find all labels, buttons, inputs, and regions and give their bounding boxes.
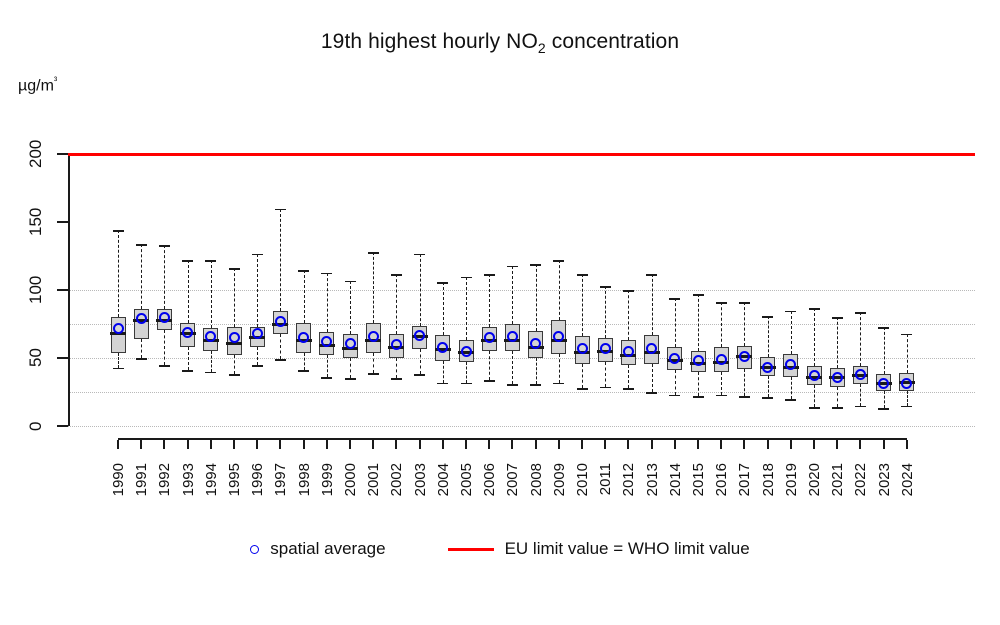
whisker-cap-upper: [553, 260, 564, 262]
whisker-cap-upper: [391, 274, 402, 276]
whisker-cap-lower: [113, 368, 124, 370]
whisker-lower: [304, 353, 305, 371]
x-axis-tick: [349, 440, 351, 449]
whisker-lower: [396, 358, 397, 378]
x-axis-tick: [767, 440, 769, 449]
whisker-upper: [536, 264, 537, 331]
whisker-lower: [652, 364, 653, 393]
x-axis-tick-label: 1995: [226, 463, 242, 496]
whisker-cap-upper: [159, 245, 170, 247]
whisker-upper: [628, 290, 629, 340]
x-axis-tick-label: 2003: [412, 463, 428, 496]
whisker-upper: [118, 230, 119, 317]
whisker-cap-upper: [368, 252, 379, 254]
whisker-cap-upper: [113, 230, 124, 232]
whisker-cap-lower: [182, 370, 193, 372]
whisker-upper: [652, 274, 653, 335]
x-axis-tick-label: 2020: [806, 463, 822, 496]
whisker-cap-upper: [762, 316, 773, 318]
whisker-upper: [211, 260, 212, 328]
x-axis-tick: [883, 440, 885, 449]
x-axis-tick: [790, 440, 792, 449]
whisker-cap-upper: [484, 274, 495, 276]
whisker-upper: [837, 317, 838, 367]
legend-item-spatial-average: spatial average: [250, 539, 385, 559]
x-axis-tick: [859, 440, 861, 449]
whisker-cap-upper: [414, 254, 425, 256]
whisker-lower: [373, 353, 374, 373]
spatial-average-marker: [391, 339, 402, 350]
spatial-average-marker: [437, 342, 448, 353]
whisker-cap-lower: [878, 408, 889, 410]
x-axis-tick: [720, 440, 722, 449]
whisker-upper: [512, 266, 513, 324]
gridline: [68, 392, 975, 393]
spatial-average-marker: [484, 332, 495, 343]
whisker-cap-upper: [229, 268, 240, 270]
y-axis-tick: [57, 153, 68, 155]
whisker-lower: [628, 365, 629, 388]
whisker-cap-upper: [716, 302, 727, 304]
whisker-lower: [466, 362, 467, 382]
y-axis-tick: [57, 357, 68, 359]
spatial-average-marker: [136, 313, 147, 324]
whisker-lower: [791, 377, 792, 399]
whisker-cap-upper: [669, 298, 680, 300]
whisker-cap-upper: [809, 308, 820, 310]
x-axis-tick-label: 2001: [365, 463, 381, 496]
spatial-average-marker: [855, 369, 866, 380]
x-axis-tick-label: 1996: [249, 463, 265, 496]
x-axis-tick-label: 1999: [319, 463, 335, 496]
x-axis-tick: [419, 440, 421, 449]
whisker-cap-lower: [159, 365, 170, 367]
whisker-lower: [768, 376, 769, 398]
x-axis-tick-label: 2014: [667, 463, 683, 496]
legend: spatial average EU limit value = WHO lim…: [0, 534, 1000, 564]
whisker-lower: [118, 353, 119, 368]
whisker-cap-lower: [623, 388, 634, 390]
x-axis-tick: [651, 440, 653, 449]
x-axis-tick: [697, 440, 699, 449]
whisker-lower: [814, 385, 815, 407]
whisker-upper: [675, 298, 676, 347]
whisker-cap-upper: [600, 286, 611, 288]
x-axis-tick: [395, 440, 397, 449]
whisker-upper: [860, 312, 861, 366]
whisker-lower: [489, 351, 490, 380]
whisker-lower: [164, 330, 165, 365]
x-axis-tick-label: 2019: [783, 463, 799, 496]
x-axis-tick: [535, 440, 537, 449]
x-axis-tick-label: 2015: [690, 463, 706, 496]
whisker-upper: [884, 327, 885, 375]
spatial-average-marker: [113, 323, 124, 334]
gridline: [68, 324, 975, 325]
whisker-cap-lower: [577, 388, 588, 390]
spatial-average-marker: [182, 327, 193, 338]
x-axis-tick-label: 2023: [876, 463, 892, 496]
x-axis-tick: [558, 440, 560, 449]
spatial-average-marker: [159, 312, 170, 323]
x-axis-tick-label: 2010: [574, 463, 590, 496]
x-axis-tick: [743, 440, 745, 449]
x-axis-tick-label: 2018: [760, 463, 776, 496]
whisker-lower: [234, 355, 235, 374]
whisker-cap-upper: [136, 244, 147, 246]
whisker-upper: [141, 244, 142, 309]
whisker-lower: [350, 358, 351, 378]
x-axis-tick: [604, 440, 606, 449]
whisker-upper: [768, 316, 769, 357]
whisker-upper: [907, 334, 908, 373]
legend-label-limit-value: EU limit value = WHO limit value: [505, 539, 750, 559]
whisker-upper: [257, 254, 258, 327]
x-axis-tick-label: 2011: [597, 463, 613, 495]
whisker-cap-lower: [646, 392, 657, 394]
whisker-cap-lower: [345, 378, 356, 380]
x-axis-tick: [372, 440, 374, 449]
whisker-cap-lower: [832, 407, 843, 409]
spatial-average-marker: [414, 330, 425, 341]
whisker-lower: [675, 370, 676, 394]
x-axis-tick: [674, 440, 676, 449]
spatial-average-marker: [252, 328, 263, 339]
gridline: [68, 426, 975, 427]
whisker-cap-upper: [507, 266, 518, 268]
x-axis-tick-label: 2004: [435, 463, 451, 496]
x-axis-tick: [442, 440, 444, 449]
x-axis-tick: [256, 440, 258, 449]
whisker-cap-lower: [553, 383, 564, 385]
whisker-cap-lower: [855, 406, 866, 408]
whisker-cap-lower: [739, 396, 750, 398]
whisker-upper: [791, 311, 792, 354]
whisker-upper: [304, 270, 305, 323]
y-axis-tick-label: 0: [26, 402, 46, 450]
whisker-cap-lower: [716, 395, 727, 397]
whisker-cap-upper: [855, 312, 866, 314]
whisker-cap-upper: [205, 260, 216, 262]
whisker-upper: [420, 254, 421, 326]
whisker-cap-lower: [275, 359, 286, 361]
whisker-cap-upper: [437, 282, 448, 284]
x-axis-tick-label: 1990: [110, 463, 126, 496]
whisker-lower: [512, 351, 513, 384]
whisker-upper: [373, 252, 374, 323]
whisker-cap-upper: [693, 294, 704, 296]
x-axis-tick: [627, 440, 629, 449]
x-axis-tick-label: 1993: [180, 463, 196, 496]
whisker-cap-lower: [461, 383, 472, 385]
whisker-lower: [744, 369, 745, 396]
whisker-cap-lower: [298, 370, 309, 372]
whisker-upper: [721, 302, 722, 347]
whisker-upper: [698, 294, 699, 351]
x-axis-tick-label: 1991: [133, 463, 149, 496]
whisker-cap-lower: [693, 396, 704, 398]
whisker-upper: [350, 281, 351, 334]
x-axis-tick: [187, 440, 189, 449]
whisker-upper: [489, 274, 490, 327]
spatial-average-marker: [275, 316, 286, 327]
whisker-cap-upper: [252, 254, 263, 256]
whisker-cap-upper: [832, 317, 843, 319]
whisker-cap-upper: [785, 311, 796, 313]
whisker-upper: [443, 282, 444, 335]
whisker-cap-lower: [321, 377, 332, 379]
gridline: [68, 290, 975, 291]
x-axis-tick-label: 2016: [713, 463, 729, 496]
legend-item-limit-value: EU limit value = WHO limit value: [448, 539, 750, 559]
whisker-cap-upper: [321, 273, 332, 275]
whisker-lower: [141, 339, 142, 358]
whisker-upper: [234, 268, 235, 326]
spatial-average-marker: [669, 353, 680, 364]
whisker-lower: [188, 347, 189, 370]
y-axis-tick-label: 200: [26, 130, 46, 178]
y-axis-tick-label: 150: [26, 198, 46, 246]
whisker-lower: [698, 372, 699, 396]
x-axis-tick-label: 1997: [272, 463, 288, 496]
x-axis-tick: [906, 440, 908, 449]
x-axis-tick-label: 1994: [203, 463, 219, 496]
line-icon: [448, 548, 494, 551]
whisker-lower: [837, 387, 838, 407]
whisker-upper: [327, 273, 328, 333]
whisker-cap-lower: [762, 397, 773, 399]
whisker-cap-lower: [414, 374, 425, 376]
y-axis-tick-label: 100: [26, 266, 46, 314]
spatial-average-marker: [600, 343, 611, 354]
whisker-cap-upper: [623, 290, 634, 292]
whisker-lower: [211, 351, 212, 371]
x-axis-tick: [279, 440, 281, 449]
whisker-upper: [164, 245, 165, 309]
x-axis-tick: [836, 440, 838, 449]
x-axis-tick-label: 2006: [481, 463, 497, 496]
whisker-cap-upper: [878, 327, 889, 329]
whisker-lower: [420, 349, 421, 375]
whisker-cap-lower: [785, 399, 796, 401]
whisker-lower: [605, 362, 606, 386]
whisker-upper: [605, 286, 606, 338]
gridline: [68, 358, 975, 359]
x-axis-tick: [488, 440, 490, 449]
whisker-lower: [907, 391, 908, 406]
circle-icon: [250, 545, 259, 554]
legend-label-spatial-average: spatial average: [270, 539, 385, 559]
whisker-upper: [188, 260, 189, 322]
whisker-lower: [536, 358, 537, 384]
whisker-cap-upper: [275, 209, 286, 211]
spatial-average-marker: [623, 346, 634, 357]
x-axis-tick: [326, 440, 328, 449]
x-axis-tick: [233, 440, 235, 449]
whisker-lower: [582, 364, 583, 388]
y-axis-line: [68, 154, 70, 426]
y-axis-tick: [57, 425, 68, 427]
y-axis-tick: [57, 221, 68, 223]
x-axis-tick-label: 2007: [504, 463, 520, 496]
whisker-cap-lower: [437, 383, 448, 385]
whisker-lower: [327, 355, 328, 377]
eu-who-limit-line: [68, 153, 975, 156]
spatial-average-marker: [229, 332, 240, 343]
whisker-upper: [559, 260, 560, 320]
whisker-lower: [860, 384, 861, 406]
x-axis-tick: [140, 440, 142, 449]
x-axis-tick-label: 2009: [551, 463, 567, 496]
x-axis-tick: [163, 440, 165, 449]
whisker-lower: [884, 391, 885, 409]
whisker-cap-lower: [368, 373, 379, 375]
whisker-cap-lower: [229, 374, 240, 376]
chart-page: 19th highest hourly NO2 concentration µg…: [0, 0, 1000, 625]
whisker-lower: [721, 372, 722, 395]
whisker-lower: [257, 347, 258, 365]
spatial-average-marker: [507, 331, 518, 342]
whisker-upper: [280, 209, 281, 311]
x-axis-tick-label: 1998: [296, 463, 312, 496]
plot-area: 050100150200 199019911992199319941995199…: [0, 0, 1000, 625]
whisker-upper: [396, 274, 397, 334]
x-axis-tick-label: 2021: [829, 463, 845, 496]
spatial-average-marker: [530, 338, 541, 349]
whisker-cap-lower: [484, 380, 495, 382]
x-axis-tick: [813, 440, 815, 449]
whisker-cap-upper: [345, 281, 356, 283]
whisker-cap-upper: [646, 274, 657, 276]
x-axis-tick: [465, 440, 467, 449]
x-axis-tick: [581, 440, 583, 449]
whisker-cap-lower: [809, 407, 820, 409]
x-axis-tick-label: 2000: [342, 463, 358, 496]
spatial-average-marker: [693, 355, 704, 366]
whisker-upper: [466, 277, 467, 341]
x-axis-tick-label: 2012: [620, 463, 636, 496]
whisker-cap-upper: [182, 260, 193, 262]
whisker-cap-lower: [901, 406, 912, 408]
whisker-upper: [582, 274, 583, 336]
whisker-upper: [814, 308, 815, 366]
whisker-lower: [280, 334, 281, 360]
x-axis-tick-label: 2005: [458, 463, 474, 496]
spatial-average-marker: [368, 331, 379, 342]
whisker-cap-upper: [298, 270, 309, 272]
whisker-upper: [744, 302, 745, 345]
whisker-cap-upper: [739, 302, 750, 304]
y-axis-tick-label: 50: [26, 334, 46, 382]
whisker-cap-upper: [461, 277, 472, 279]
whisker-cap-upper: [577, 274, 588, 276]
whisker-lower: [443, 361, 444, 383]
whisker-cap-lower: [507, 384, 518, 386]
x-axis-tick-label: 2017: [736, 463, 752, 496]
spatial-average-marker: [716, 354, 727, 365]
whisker-cap-upper: [530, 264, 541, 266]
x-axis-tick-label: 2024: [899, 463, 915, 496]
x-axis-tick: [511, 440, 513, 449]
spatial-average-marker: [345, 338, 356, 349]
spatial-average-marker: [809, 370, 820, 381]
y-axis-tick: [57, 289, 68, 291]
spatial-average-marker: [461, 346, 472, 357]
x-axis-tick-label: 1992: [156, 463, 172, 496]
x-axis-tick: [210, 440, 212, 449]
whisker-cap-lower: [391, 378, 402, 380]
x-axis-tick: [117, 440, 119, 449]
x-axis-tick-label: 2013: [644, 463, 660, 496]
whisker-cap-upper: [901, 334, 912, 336]
whisker-cap-lower: [252, 365, 263, 367]
spatial-average-marker: [832, 372, 843, 383]
x-axis-tick-label: 2008: [528, 463, 544, 496]
whisker-cap-lower: [205, 372, 216, 374]
spatial-average-marker: [577, 343, 588, 354]
whisker-cap-lower: [600, 387, 611, 389]
x-axis-tick-label: 2002: [388, 463, 404, 496]
whisker-cap-lower: [136, 358, 147, 360]
whisker-cap-lower: [530, 384, 541, 386]
whisker-cap-lower: [669, 395, 680, 397]
x-axis-tick: [303, 440, 305, 449]
x-axis-tick-label: 2022: [852, 463, 868, 496]
whisker-lower: [559, 354, 560, 383]
